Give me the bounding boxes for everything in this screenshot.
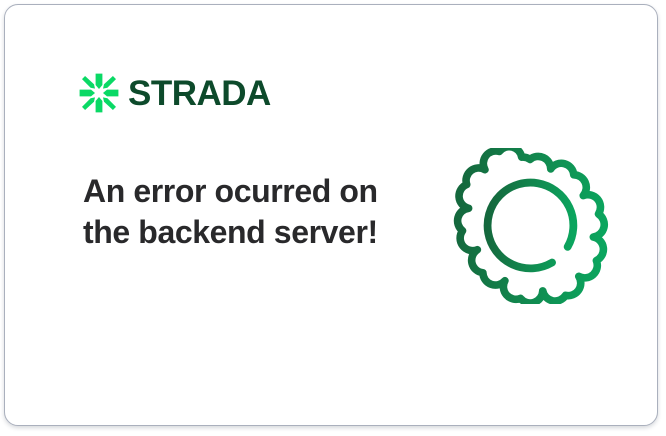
brand-wordmark: STRADA: [128, 76, 271, 111]
strada-asterisk-icon: [79, 73, 119, 113]
error-message: An error ocurred on the backend server!: [83, 171, 383, 253]
brand-lockup: STRADA: [79, 73, 271, 113]
error-card: STRADA An error ocurred on the backend s…: [4, 4, 658, 426]
